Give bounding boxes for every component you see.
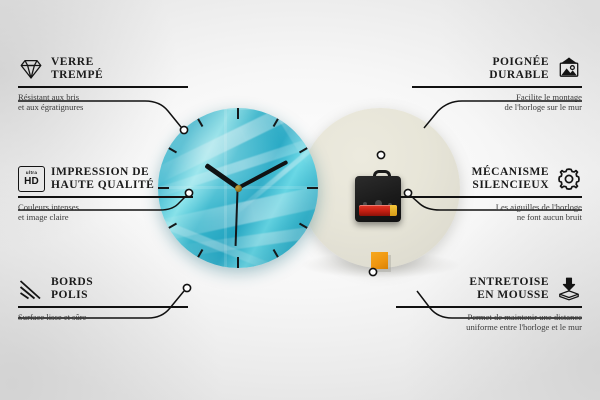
feature-header: ENTRETOISEEN MOUSSE <box>396 276 582 302</box>
feature-divider <box>396 306 582 308</box>
feature-entretoise-en-mousse[interactable]: ENTRETOISEEN MOUSSE Permet de maintenir … <box>396 276 582 332</box>
feature-title: MÉCANISMESILENCIEUX <box>400 166 549 192</box>
infographic-canvas: VERRETREMPÉ Résistant aux briset aux égr… <box>0 0 600 400</box>
diamond-icon <box>18 56 44 82</box>
feature-title: POIGNÉEDURABLE <box>412 56 549 82</box>
foam-spacer-square <box>371 252 388 269</box>
feature-title: BORDSPOLIS <box>51 276 93 302</box>
clock-hands-hub <box>235 185 242 192</box>
feature-header: POIGNÉEDURABLE <box>412 56 582 82</box>
hanging-picture-frame-icon <box>556 56 582 82</box>
feature-mecanisme-silencieux[interactable]: MÉCANISMESILENCIEUX Les aiguilles de l'h… <box>400 166 582 222</box>
clock-tick <box>237 108 239 188</box>
feature-divider <box>18 196 193 198</box>
feature-description: Les aiguilles de l'horlogene font aucun … <box>400 202 582 223</box>
feature-title: IMPRESSION DEHAUTE QUALITÉ <box>51 166 154 192</box>
gear-icon <box>556 166 582 192</box>
feature-title: ENTRETOISEEN MOUSSE <box>396 276 549 302</box>
feature-header: MÉCANISMESILENCIEUX <box>400 166 582 192</box>
ultra-hd-label-hd: HD <box>24 177 39 187</box>
feature-divider <box>412 86 582 88</box>
feature-description: Couleurs intenseset image claire <box>18 202 193 223</box>
clock-tick <box>238 187 318 189</box>
battery-positive-cap <box>390 205 397 216</box>
feature-description: Surface lisse et sûre <box>18 312 188 322</box>
feature-description: Permet de maintenir une distanceuniforme… <box>396 312 582 333</box>
feature-description: Facilite le montagede l'horloge sur le m… <box>412 92 582 113</box>
feature-impression-haute-qualite[interactable]: ultra HD IMPRESSION DEHAUTE QUALITÉ Coul… <box>18 166 193 222</box>
feature-poignee-durable[interactable]: POIGNÉEDURABLE Facilite le montagede l'h… <box>412 56 582 112</box>
feature-title: VERRETREMPÉ <box>51 56 103 82</box>
feature-header: BORDSPOLIS <box>18 276 188 302</box>
feature-divider <box>18 86 188 88</box>
polished-edges-icon <box>18 276 44 302</box>
feature-divider <box>18 306 188 308</box>
feature-header: ultra HD IMPRESSION DEHAUTE QUALITÉ <box>18 166 193 192</box>
feature-divider <box>400 196 582 198</box>
feature-header: VERRETREMPÉ <box>18 56 188 82</box>
foam-spacer-press-icon <box>556 276 582 302</box>
feature-verre-trempe[interactable]: VERRETREMPÉ Résistant aux briset aux égr… <box>18 56 188 112</box>
feature-bords-polis[interactable]: BORDSPOLIS Surface lisse et sûre <box>18 276 188 322</box>
ultra-hd-icon: ultra HD <box>18 166 44 192</box>
feature-description: Résistant aux briset aux égratignures <box>18 92 188 113</box>
